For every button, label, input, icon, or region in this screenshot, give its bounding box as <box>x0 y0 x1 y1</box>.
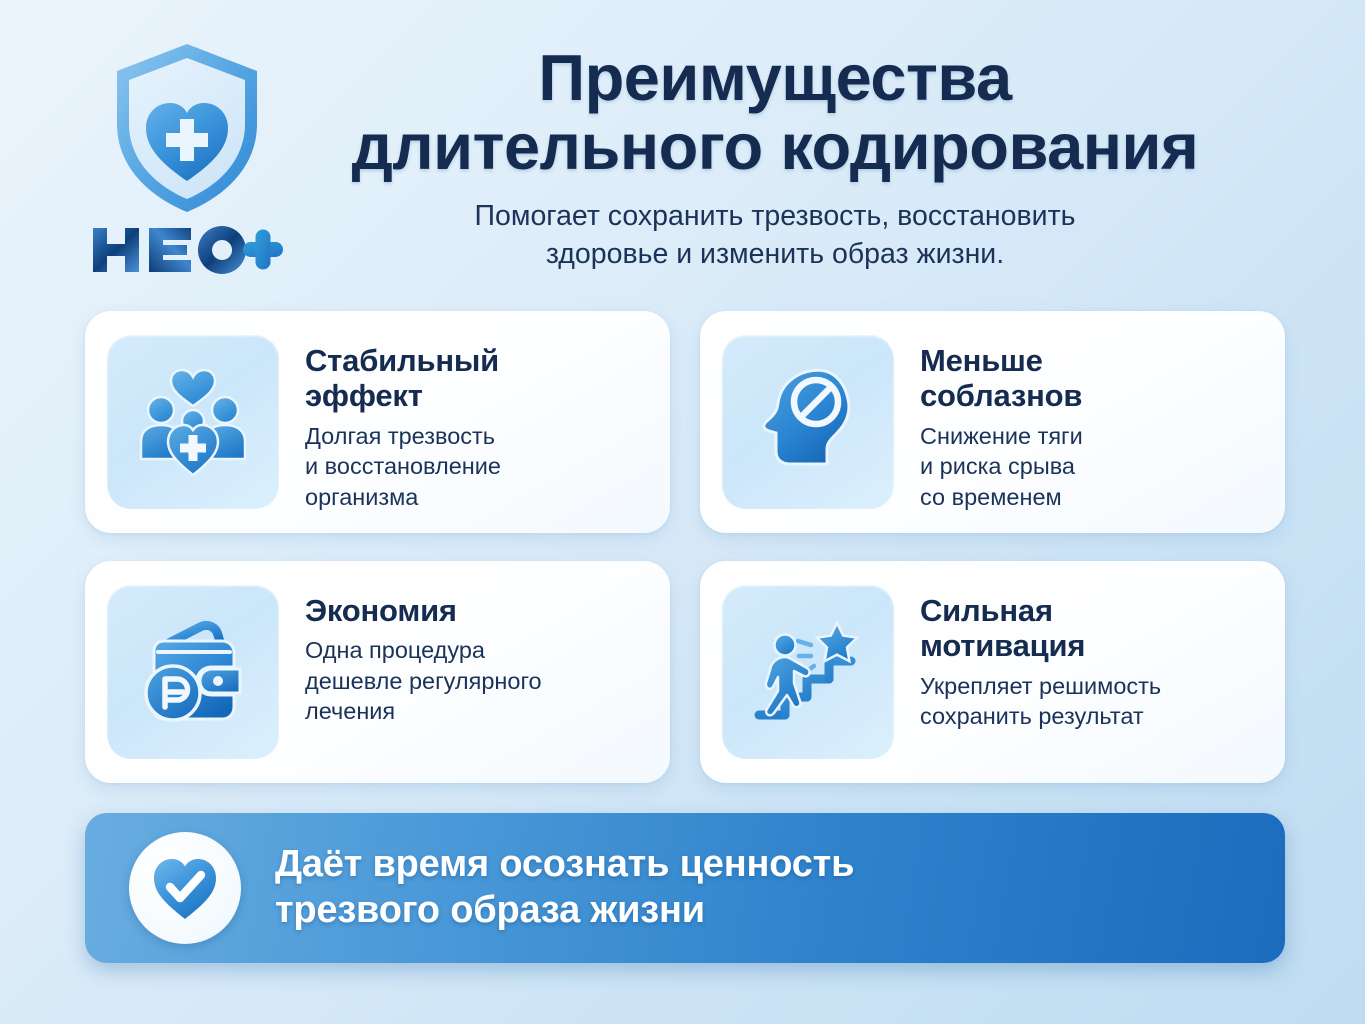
infographic-poster: Преимущества длительного кодирования Пом… <box>0 0 1365 1024</box>
wallet-ruble-coin-icon <box>130 609 256 735</box>
icon-tile <box>722 585 894 759</box>
benefit-card-fewer-temptations[interactable]: Меньше соблазнов Снижение тяги и риска с… <box>700 311 1285 533</box>
family-heart-plus-icon <box>130 359 256 485</box>
poster-header: Преимущества длительного кодирования Пом… <box>0 0 1365 300</box>
head-no-entry-icon <box>745 359 871 485</box>
card-description: Одна процедура дешевле регулярного лечен… <box>305 635 648 727</box>
heart-check-badge-icon <box>150 853 220 923</box>
card-description: Снижение тяги и риска срыва со временем <box>920 421 1263 513</box>
icon-tile <box>107 335 279 509</box>
footer-banner[interactable]: Даёт время осознать ценность трезвого об… <box>85 813 1285 963</box>
person-climbing-stairs-star-icon <box>745 609 871 735</box>
benefit-card-motivation[interactable]: Сильная мотивация Укрепляет решимость со… <box>700 561 1285 783</box>
card-text: Стабильный эффект Долгая трезвость и вос… <box>279 335 648 512</box>
icon-tile <box>722 335 894 509</box>
banner-badge <box>129 832 241 944</box>
card-text: Экономия Одна процедура дешевле регулярн… <box>279 585 648 727</box>
benefit-card-grid: Стабильный эффект Долгая трезвость и вос… <box>85 311 1285 783</box>
card-title: Стабильный эффект <box>305 343 648 414</box>
poster-subtitle: Помогает сохранить трезвость, восстанови… <box>255 198 1295 274</box>
banner-text: Даёт время осознать ценность трезвого об… <box>241 842 854 934</box>
card-description: Укрепляет решимость сохранить результат <box>920 671 1263 732</box>
benefit-card-stable-effect[interactable]: Стабильный эффект Долгая трезвость и вос… <box>85 311 670 533</box>
card-title: Меньше соблазнов <box>920 343 1263 414</box>
title-block: Преимущества длительного кодирования Пом… <box>255 44 1295 274</box>
shield-heart-plus-logo-icon <box>102 38 272 218</box>
card-text: Сильная мотивация Укрепляет решимость со… <box>894 585 1263 732</box>
poster-title: Преимущества длительного кодирования <box>255 44 1295 182</box>
icon-tile <box>107 585 279 759</box>
card-description: Долгая трезвость и восстановление органи… <box>305 421 648 513</box>
card-title: Сильная мотивация <box>920 593 1263 664</box>
benefit-card-savings[interactable]: Экономия Одна процедура дешевле регулярн… <box>85 561 670 783</box>
card-title: Экономия <box>305 593 648 628</box>
card-text: Меньше соблазнов Снижение тяги и риска с… <box>894 335 1263 512</box>
